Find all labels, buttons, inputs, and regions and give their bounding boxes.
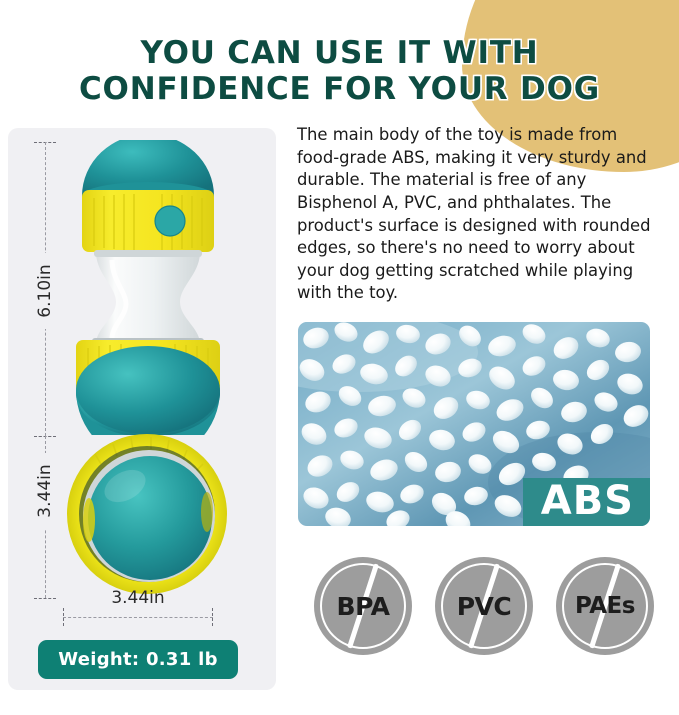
no-pvc-label: PVC — [435, 557, 533, 655]
diameter-dim-tick-bottom — [34, 598, 56, 599]
product-image-bottom-view — [65, 432, 230, 597]
body-paragraph: The main body of the toy is made from fo… — [297, 124, 657, 305]
width-dim-label: 3.44in — [63, 588, 213, 608]
abs-material-photo: ABS — [298, 322, 650, 526]
no-bpa-badge: BPA — [314, 557, 412, 655]
page-title-line-1: YOU CAN USE IT WITH — [14, 36, 665, 72]
no-pvc-badge: PVC — [435, 557, 533, 655]
page-title-line-2: CONFIDENCE FOR YOUR DOG — [14, 72, 665, 108]
no-paes-badge: PAEs — [556, 557, 654, 655]
product-image-side-view — [72, 140, 224, 435]
free-of-badges-row: BPA PVC PAEs — [314, 552, 654, 660]
width-dim-line — [63, 617, 213, 618]
no-paes-label: PAEs — [556, 557, 654, 655]
abs-label-badge: ABS — [523, 478, 650, 526]
width-dim-tick-right — [212, 608, 213, 626]
diameter-dim-label: 3.44in — [32, 453, 58, 529]
height-dim-label: 6.10in — [32, 253, 58, 329]
page-title: YOU CAN USE IT WITH CONFIDENCE FOR YOUR … — [0, 36, 679, 108]
weight-badge: Weight: 0.31 lb — [38, 640, 238, 679]
no-bpa-label: BPA — [314, 557, 412, 655]
